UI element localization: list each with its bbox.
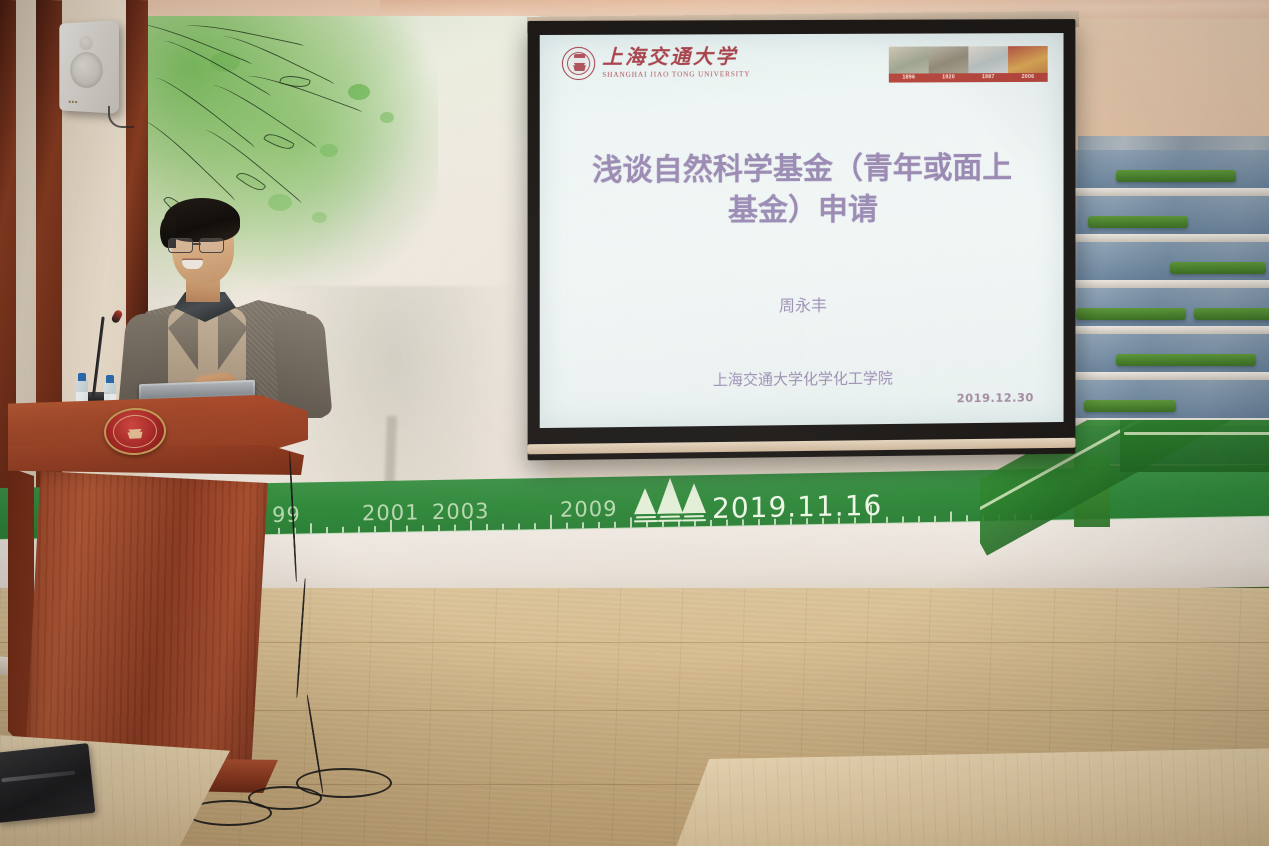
render-floor-slab <box>1074 418 1269 426</box>
render-floor-slab <box>1074 280 1269 288</box>
banner-year: 1987 <box>968 73 1008 82</box>
logo-chinese-name: 上海交通大学 <box>602 47 750 68</box>
slide-university-logo: 上海交通大学 Shanghai Jiao Tong University <box>562 46 750 80</box>
render-glass-band <box>1074 334 1269 372</box>
banner-year: 1920 <box>929 73 969 82</box>
wall-loudspeaker: ●●● <box>59 20 119 114</box>
banner-year: 1896 <box>889 73 929 82</box>
render-glass-band <box>1074 288 1269 326</box>
render-green-terrace <box>1076 308 1186 320</box>
render-green-terrace <box>1170 262 1266 274</box>
screen-weight-bar <box>528 438 1076 455</box>
presenter-mouth <box>182 260 203 269</box>
render-floor-slab <box>1074 188 1269 196</box>
banner-photo <box>968 46 1008 73</box>
crest-anvil-icon <box>126 424 145 439</box>
render-green-terrace <box>1116 354 1256 366</box>
tree-emblem-icon <box>632 481 708 528</box>
render-glass-band <box>1074 150 1269 188</box>
timeline-year: 2003 <box>432 499 489 524</box>
speaker-cone-icon <box>70 52 103 89</box>
bottle-cap <box>78 373 86 381</box>
ramp-wall-segment <box>1074 455 1110 527</box>
logo-english-name: Shanghai Jiao Tong University <box>602 70 750 79</box>
mural-blob <box>380 112 394 123</box>
render-floor-slab <box>1074 326 1269 334</box>
slide-date: 2019.12.30 <box>957 390 1034 405</box>
slide-author: 周永丰 <box>540 290 1064 319</box>
render-floor-slab <box>1074 234 1269 242</box>
render-green-terrace <box>1116 170 1236 182</box>
speaker-tweeter-icon <box>79 36 92 50</box>
slide-affiliation: 上海交通大学化学化工学院 <box>540 365 1064 392</box>
timeline-year: 2001 <box>362 500 419 525</box>
banner-photo <box>1008 46 1048 73</box>
screen-surface: 上海交通大学 Shanghai Jiao Tong University 189… <box>540 33 1064 428</box>
podium-front-lip <box>8 445 304 475</box>
render-glass-band <box>1074 196 1269 234</box>
timeline-year: 2009 <box>560 497 617 522</box>
mural-blob <box>320 144 338 157</box>
banner-year-strip: 1896 1920 1987 2006 <box>889 73 1048 83</box>
banner-year: 2006 <box>1008 73 1048 82</box>
cable-coil <box>296 768 392 798</box>
render-glass-band <box>1074 242 1269 280</box>
sjtu-seal-icon <box>562 47 595 80</box>
banner-photo <box>889 46 929 73</box>
projection-screen: 上海交通大学 Shanghai Jiao Tong University 189… <box>528 19 1076 460</box>
render-green-terrace <box>1088 216 1188 228</box>
presenter-hair <box>164 198 240 242</box>
black-document-folder <box>0 743 95 823</box>
speaker-brand-label: ●●● <box>68 99 77 105</box>
podium-body <box>26 471 268 771</box>
front-table-right <box>672 748 1269 846</box>
eyeglasses-icon <box>168 238 232 253</box>
render-sky <box>1074 18 1269 150</box>
bottle-cap <box>106 375 114 383</box>
folder-zipper <box>1 771 75 783</box>
banner-photo <box>929 46 969 73</box>
render-green-terrace <box>1084 400 1176 412</box>
render-green-terrace <box>1194 308 1269 320</box>
mural-blob <box>348 84 370 100</box>
timeline-highlight-date: 2019.11.16 <box>712 489 882 525</box>
presentation-slide: 上海交通大学 Shanghai Jiao Tong University 189… <box>540 33 1064 428</box>
banner-photos <box>889 46 1048 74</box>
slide-title: 浅谈自然科学基金（青年或面上基金）申请 <box>586 149 1018 234</box>
render-floor-slab <box>1074 372 1269 380</box>
lecture-hall-scene: ●●● <box>0 0 1269 846</box>
render-glass-band <box>1074 380 1269 418</box>
campus-timeline-banner: 1896 1920 1987 2006 <box>889 46 1048 83</box>
